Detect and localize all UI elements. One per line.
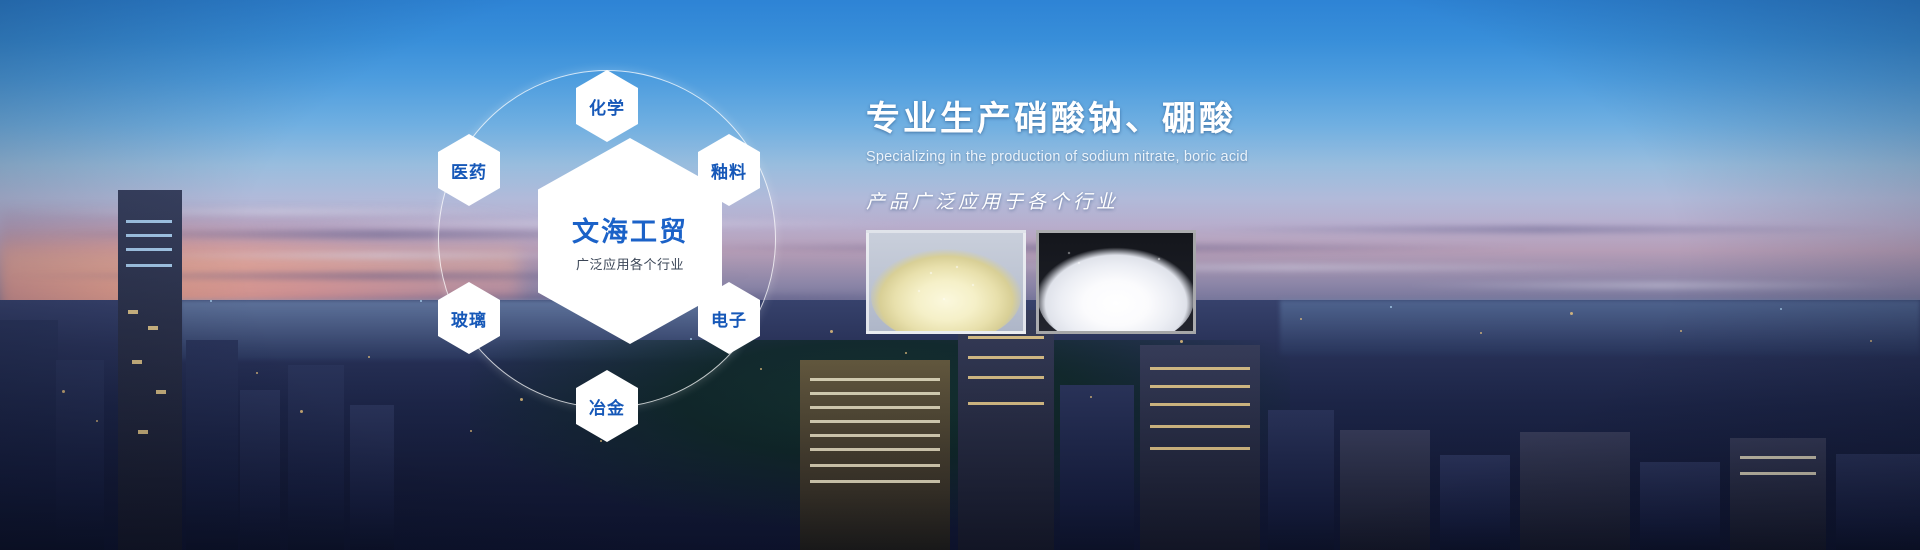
promo-banner: 文海工贸 广泛应用各个行业 化学 釉料 电子 冶金 玻璃 医药 专业生产硝酸钠、… bbox=[0, 0, 1920, 550]
banner-copy: 专业生产硝酸钠、硼酸 Specializing in the productio… bbox=[866, 100, 1566, 214]
powder-specks bbox=[869, 233, 1023, 331]
product-photo-boric-acid[interactable] bbox=[1036, 230, 1196, 334]
powder-specks bbox=[1039, 233, 1193, 331]
banner-tagline: 产品广泛应用于各个行业 bbox=[866, 187, 1566, 214]
company-tagline: 广泛应用各个行业 bbox=[576, 254, 684, 273]
banner-subheadline: Specializing in the production of sodium… bbox=[866, 149, 1566, 165]
industry-hexagon-diagram: 文海工贸 广泛应用各个行业 化学 釉料 电子 冶金 玻璃 医药 bbox=[430, 30, 830, 450]
product-photo-strip bbox=[866, 230, 1196, 334]
banner-headline: 专业生产硝酸钠、硼酸 bbox=[866, 100, 1566, 139]
product-photo-sodium-nitrate[interactable] bbox=[866, 230, 1026, 334]
company-name: 文海工贸 bbox=[572, 210, 688, 249]
